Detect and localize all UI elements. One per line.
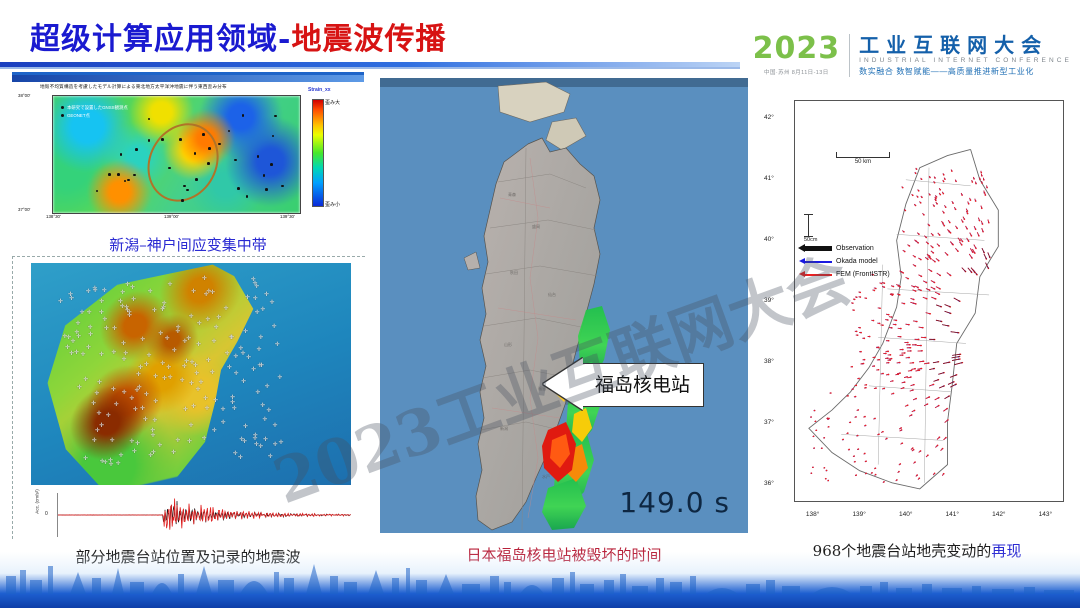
terrain-plot-area: ✛✛✛✛✛✛✛✛✛✛✛✛✛✛✛✛✛✛✛✛✛✛✛✛✛✛✛✛✛✛✛✛✛✛✛✛✛✛✛✛… xyxy=(31,263,351,485)
seismic-station-marker-icon: ✛ xyxy=(243,424,248,430)
seismic-station-marker-icon: ✛ xyxy=(212,339,217,345)
displacement-plot-area xyxy=(794,100,1064,502)
strain-colorbar-max-label: 歪み大 xyxy=(325,99,340,106)
vector-scale-marker: 50cm xyxy=(804,214,817,243)
strain-station-dot xyxy=(202,133,205,136)
displacement-xtick: 140° xyxy=(899,511,912,518)
seismic-station-marker-icon: ✛ xyxy=(253,433,258,439)
skyline-silhouette-icon xyxy=(0,560,1080,594)
scale-bar-rule xyxy=(836,152,890,158)
map-scale-bar: 50 km xyxy=(836,152,890,165)
seismic-station-marker-icon: ✛ xyxy=(88,332,93,338)
seismic-station-marker-icon: ✛ xyxy=(273,442,278,448)
strain-map-legend: 本研究で設置したGNSS観測点 GEONET点 xyxy=(61,104,128,120)
waveform-ylabel: Acc. (cm/s²) xyxy=(35,482,40,522)
legend-item-observation: Observation xyxy=(804,242,890,255)
seismic-station-marker-icon: ✛ xyxy=(106,413,111,419)
logo-text-block: 工业互联网大会 INDUSTRIAL INTERNET CONFERENCE 数… xyxy=(859,34,1072,77)
seismic-station-marker-icon: ✛ xyxy=(133,407,138,413)
svg-text:盛岡: 盛岡 xyxy=(532,223,540,229)
strain-station-dot xyxy=(127,179,130,182)
seismic-station-marker-icon: ✛ xyxy=(182,364,187,370)
legend-swatch-fem-icon xyxy=(804,274,832,276)
seismic-waveform-plot: Acc. (cm/s²) 0 xyxy=(51,493,351,537)
strain-map-headerbar xyxy=(12,75,364,82)
seismic-station-marker-icon: ✛ xyxy=(160,361,165,367)
seismic-station-marker-icon: ✛ xyxy=(253,296,258,302)
geonet-station-marker-icon xyxy=(61,114,64,117)
seismic-station-marker-icon: ✛ xyxy=(158,331,163,337)
seismic-station-marker-icon: ✛ xyxy=(153,418,158,424)
seismic-station-marker-icon: ✛ xyxy=(193,363,198,369)
seismic-station-marker-icon: ✛ xyxy=(58,299,63,305)
terrain-station-markers: ✛✛✛✛✛✛✛✛✛✛✛✛✛✛✛✛✛✛✛✛✛✛✛✛✛✛✛✛✛✛✛✛✛✛✛✛✛✛✛✛… xyxy=(31,263,351,485)
seismic-station-marker-icon: ✛ xyxy=(257,347,262,353)
displacement-legend: Observation Okada model FEM (FrontISTR) xyxy=(804,242,890,281)
seismic-station-marker-icon: ✛ xyxy=(112,326,117,332)
strain-map-title: 地殻不均質構造を考慮したモデル計算による東北地方太平洋沖地震に伴う東西歪み分布 xyxy=(40,84,227,90)
seismic-station-marker-icon: ✛ xyxy=(99,352,104,358)
seismic-station-marker-icon: ✛ xyxy=(88,325,93,331)
seismic-station-marker-icon: ✛ xyxy=(102,288,107,294)
seismic-station-marker-icon: ✛ xyxy=(221,420,226,426)
seismic-station-marker-icon: ✛ xyxy=(140,337,145,343)
seismic-station-marker-icon: ✛ xyxy=(270,300,275,306)
displacement-vectors xyxy=(810,168,991,483)
strain-station-dot xyxy=(108,173,111,176)
displacement-ytick: 41° xyxy=(764,175,774,182)
seismic-station-marker-icon: ✛ xyxy=(151,433,156,439)
seismic-station-marker-icon: ✛ xyxy=(153,399,158,405)
seismic-station-marker-icon: ✛ xyxy=(194,371,199,377)
seismic-station-marker-icon: ✛ xyxy=(80,310,85,316)
seismic-station-marker-icon: ✛ xyxy=(123,351,128,357)
svg-text:水戸: 水戸 xyxy=(542,473,550,479)
strain-map-figure: 地殻不均質構造を考慮したモデル計算による東北地方太平洋沖地震に伴う東西歪み分布 … xyxy=(12,72,364,230)
simulation-map-layer: 青森盛岡秋田 仙台山形福島 新潟水戸 xyxy=(380,78,748,533)
logo-year: 2023 xyxy=(753,34,841,64)
waveform-zero-label: 0 xyxy=(45,511,48,517)
seismic-station-marker-icon: ✛ xyxy=(153,374,158,380)
displacement-ytick: 42° xyxy=(764,114,774,121)
scale-bar-label: 50 km xyxy=(836,159,890,165)
svg-text:秋田: 秋田 xyxy=(510,269,518,275)
seismic-station-marker-icon: ✛ xyxy=(180,378,185,384)
seismic-station-marker-icon: ✛ xyxy=(63,334,68,340)
seismic-station-marker-icon: ✛ xyxy=(175,438,180,444)
strain-station-dot xyxy=(186,189,189,192)
seismic-station-marker-icon: ✛ xyxy=(150,428,155,434)
strain-station-dot xyxy=(246,195,249,198)
title-divider-secondary xyxy=(0,67,740,69)
seismic-station-marker-icon: ✛ xyxy=(232,406,237,412)
svg-text:仙台: 仙台 xyxy=(548,291,556,297)
svg-text:山形: 山形 xyxy=(504,341,512,347)
displacement-xtick: 142° xyxy=(992,511,1005,518)
displacement-xtick: 139° xyxy=(852,511,865,518)
logo-name-cn: 工业互联网大会 xyxy=(859,34,1072,56)
seismic-station-marker-icon: ✛ xyxy=(212,428,217,434)
seismic-station-marker-icon: ✛ xyxy=(135,441,140,447)
svg-text:青森: 青森 xyxy=(508,191,516,197)
seismic-station-marker-icon: ✛ xyxy=(122,357,127,363)
seismic-station-marker-icon: ✛ xyxy=(251,277,256,283)
strain-station-dot xyxy=(133,174,136,177)
strain-ytick-0: 38°00' xyxy=(18,93,30,98)
strain-station-dot xyxy=(207,162,210,165)
seismic-station-marker-icon: ✛ xyxy=(83,377,88,383)
strain-station-dot xyxy=(270,163,273,166)
seismic-station-marker-icon: ✛ xyxy=(168,375,173,381)
logo-slogan: 数实融合 数智赋能——高质量推进新型工业化 xyxy=(859,66,1072,77)
seismic-station-marker-icon: ✛ xyxy=(196,387,201,393)
seismic-station-marker-icon: ✛ xyxy=(116,461,121,467)
seismic-station-marker-icon: ✛ xyxy=(214,325,219,331)
seismic-station-marker-icon: ✛ xyxy=(104,326,109,332)
seismic-station-marker-icon: ✛ xyxy=(176,329,181,335)
strain-station-dot xyxy=(208,147,211,150)
seismic-station-marker-icon: ✛ xyxy=(95,428,100,434)
seismic-station-marker-icon: ✛ xyxy=(122,390,127,396)
strain-station-dot xyxy=(117,173,120,176)
seismic-station-marker-icon: ✛ xyxy=(147,353,152,359)
seismic-station-marker-icon: ✛ xyxy=(130,396,135,402)
displacement-ytick: 40° xyxy=(764,236,774,243)
strain-legend-item-1: GEONET点 xyxy=(67,113,90,118)
seismic-station-marker-icon: ✛ xyxy=(272,324,277,330)
logo-year-block: 2023 中国·苏州 8月11日-13日 xyxy=(753,34,850,76)
seismic-station-marker-icon: ✛ xyxy=(260,307,265,313)
seismic-station-marker-icon: ✛ xyxy=(233,354,238,360)
strain-station-dot xyxy=(135,148,138,151)
seismic-station-marker-icon: ✛ xyxy=(111,387,116,393)
seismic-station-marker-icon: ✛ xyxy=(251,367,256,373)
seismic-station-marker-icon: ✛ xyxy=(186,336,191,342)
seismic-station-marker-icon: ✛ xyxy=(225,351,230,357)
seismic-station-marker-icon: ✛ xyxy=(224,306,229,312)
seismic-station-marker-icon: ✛ xyxy=(268,454,273,460)
logo-divider xyxy=(849,34,850,77)
seismic-station-marker-icon: ✛ xyxy=(266,408,271,414)
seismic-station-marker-icon: ✛ xyxy=(241,379,246,385)
seismic-station-marker-icon: ✛ xyxy=(162,301,167,307)
legend-label-okada: Okada model xyxy=(836,255,878,268)
seismic-station-marker-icon: ✛ xyxy=(256,390,261,396)
seismic-station-marker-icon: ✛ xyxy=(273,423,278,429)
seismic-station-marker-icon: ✛ xyxy=(130,285,135,291)
strain-legend-item-0: 本研究で設置したGNSS観測点 xyxy=(67,105,128,110)
seismic-station-marker-icon: ✛ xyxy=(119,453,124,459)
seismic-station-marker-icon: ✛ xyxy=(230,335,235,341)
displacement-xtick: 143° xyxy=(1039,511,1052,518)
seismic-station-marker-icon: ✛ xyxy=(136,372,141,378)
seismic-station-marker-icon: ✛ xyxy=(196,342,201,348)
seismic-station-marker-icon: ✛ xyxy=(114,402,119,408)
strain-xtick-2: 139°30' xyxy=(280,214,295,219)
strain-xtick-1: 139°00' xyxy=(164,214,179,219)
seismic-station-marker-icon: ✛ xyxy=(76,321,81,327)
strain-colorbar-label: Strain_xx xyxy=(308,87,331,93)
seismic-station-marker-icon: ✛ xyxy=(86,289,91,295)
seismic-station-marker-icon: ✛ xyxy=(205,406,210,412)
crustal-displacement-chart: 42°41°40°39°38°37°36° 138°139°140°141°14… xyxy=(762,92,1072,532)
seismic-station-marker-icon: ✛ xyxy=(239,437,244,443)
seismic-station-marker-icon: ✛ xyxy=(278,375,283,381)
vector-scale-stem xyxy=(808,214,809,236)
seismic-station-marker-icon: ✛ xyxy=(260,403,265,409)
waveform-axis-line xyxy=(57,493,58,537)
footer-skyline-decoration xyxy=(0,552,1080,608)
seismic-station-marker-icon: ✛ xyxy=(189,423,194,429)
seismic-station-marker-icon: ✛ xyxy=(144,392,149,398)
seismic-station-marker-icon: ✛ xyxy=(246,355,251,361)
strain-station-dot xyxy=(242,114,245,117)
strain-station-dot xyxy=(274,115,277,118)
seismic-station-marker-icon: ✛ xyxy=(259,363,264,369)
seismic-station-marker-icon: ✛ xyxy=(202,436,207,442)
legend-item-fem: FEM (FrontISTR) xyxy=(804,268,890,281)
seismic-station-marker-icon: ✛ xyxy=(265,384,270,390)
seismic-station-marker-icon: ✛ xyxy=(191,404,196,410)
seismic-station-marker-icon: ✛ xyxy=(148,289,153,295)
seismic-station-marker-icon: ✛ xyxy=(138,365,143,371)
seismic-station-marker-icon: ✛ xyxy=(65,345,70,351)
strain-colorbar-min-label: 歪み小 xyxy=(325,201,340,208)
fukushima-callout-label: 福岛核电站 xyxy=(595,370,690,397)
vector-scale-top-cap xyxy=(804,214,813,215)
seismic-station-marker-icon: ✛ xyxy=(99,299,104,305)
seismic-station-marker-icon: ✛ xyxy=(206,289,211,295)
seismic-station-marker-icon: ✛ xyxy=(264,292,269,298)
seismic-station-marker-icon: ✛ xyxy=(151,450,156,456)
seismic-station-marker-icon: ✛ xyxy=(131,297,136,303)
seismic-station-marker-icon: ✛ xyxy=(213,398,218,404)
seismic-station-marker-icon: ✛ xyxy=(102,317,107,323)
seismic-station-marker-icon: ✛ xyxy=(183,407,188,413)
seismic-station-marker-icon: ✛ xyxy=(109,462,114,468)
simulation-timer: 149.0 s xyxy=(619,486,730,519)
seismic-station-marker-icon: ✛ xyxy=(143,417,148,423)
seismic-station-marker-icon: ✛ xyxy=(171,450,176,456)
seismic-station-marker-icon: ✛ xyxy=(121,341,126,347)
seismic-station-marker-icon: ✛ xyxy=(189,381,194,387)
seismic-station-marker-icon: ✛ xyxy=(86,345,91,351)
displacement-ytick: 36° xyxy=(764,480,774,487)
strain-station-dot xyxy=(181,199,184,202)
legend-label-observation: Observation xyxy=(836,242,874,255)
gnss-station-marker-icon xyxy=(61,106,64,109)
seismic-station-marker-icon: ✛ xyxy=(81,352,86,358)
wave-propagation-simulation: 青森盛岡秋田 仙台山形福島 新潟水戸 149.0 s xyxy=(380,78,748,533)
seismic-station-marker-icon: ✛ xyxy=(129,439,134,445)
strain-station-dot xyxy=(195,178,198,181)
seismic-station-marker-icon: ✛ xyxy=(259,335,264,341)
seismic-station-marker-icon: ✛ xyxy=(230,395,235,401)
seismic-station-marker-icon: ✛ xyxy=(97,380,102,386)
seismic-station-marker-icon: ✛ xyxy=(191,289,196,295)
fukushima-callout-arrow: 福岛核电站 xyxy=(543,358,703,410)
logo-year-subtitle: 中国·苏州 8月11日-13日 xyxy=(764,68,829,76)
strain-xtick-0: 138°30' xyxy=(46,214,61,219)
seismic-station-marker-icon: ✛ xyxy=(166,365,171,371)
seismic-station-marker-icon: ✛ xyxy=(92,438,97,444)
slide-root: 超级计算应用领域-地震波传播 2023 中国·苏州 8月11日-13日 工业互联… xyxy=(0,0,1080,608)
page-title: 超级计算应用领域-地震波传播 xyxy=(30,14,446,58)
strain-station-dot xyxy=(161,138,164,141)
displacement-xtick: 138° xyxy=(806,511,819,518)
seismic-station-marker-icon: ✛ xyxy=(152,308,157,314)
seismic-station-marker-icon: ✛ xyxy=(263,437,268,443)
seismic-station-marker-icon: ✛ xyxy=(238,455,243,461)
svg-text:新潟: 新潟 xyxy=(500,425,508,431)
strain-map-plot-area: 本研究で設置したGNSS観測点 GEONET点 xyxy=(52,95,301,214)
seismic-station-marker-icon: ✛ xyxy=(160,307,165,313)
seismic-station-marker-icon: ✛ xyxy=(216,315,221,321)
seismic-station-marker-icon: ✛ xyxy=(279,440,284,446)
seismic-station-marker-icon: ✛ xyxy=(71,339,76,345)
seismic-station-marker-icon: ✛ xyxy=(93,288,98,294)
seismic-station-marker-icon: ✛ xyxy=(254,442,259,448)
seismic-station-marker-icon: ✛ xyxy=(144,362,149,368)
terrain-station-figure: ✛✛✛✛✛✛✛✛✛✛✛✛✛✛✛✛✛✛✛✛✛✛✛✛✛✛✛✛✛✛✛✛✛✛✛✛✛✛✛✛… xyxy=(12,256,365,539)
strain-colorbar xyxy=(312,99,324,207)
legend-swatch-observation-icon xyxy=(804,246,832,251)
seismic-station-marker-icon: ✛ xyxy=(100,459,105,465)
displacement-ytick: 39° xyxy=(764,297,774,304)
seismic-station-marker-icon: ✛ xyxy=(234,371,239,377)
displacement-xtick: 141° xyxy=(946,511,959,518)
seismic-station-marker-icon: ✛ xyxy=(95,391,100,397)
seismic-station-marker-icon: ✛ xyxy=(118,299,123,305)
displacement-ytick: 37° xyxy=(764,419,774,426)
seismic-station-marker-icon: ✛ xyxy=(203,396,208,402)
seismic-station-marker-icon: ✛ xyxy=(172,348,177,354)
seismic-station-marker-icon: ✛ xyxy=(158,443,163,449)
seismic-station-marker-icon: ✛ xyxy=(99,423,104,429)
seismic-station-marker-icon: ✛ xyxy=(132,449,137,455)
seismic-station-marker-icon: ✛ xyxy=(137,385,142,391)
seismic-station-marker-icon: ✛ xyxy=(258,444,263,450)
strain-station-dot xyxy=(237,187,240,190)
seismic-station-marker-icon: ✛ xyxy=(74,350,79,356)
callout-arrow-head-icon xyxy=(543,358,583,410)
seismic-station-marker-icon: ✛ xyxy=(245,295,250,301)
page-title-accent: 地震波传播 xyxy=(291,22,446,57)
strain-station-dot xyxy=(265,188,268,191)
displacement-ytick: 38° xyxy=(764,358,774,365)
seismic-station-marker-icon: ✛ xyxy=(68,292,73,298)
seismic-station-marker-icon: ✛ xyxy=(168,282,173,288)
logo-name-en: INDUSTRIAL INTERNET CONFERENCE xyxy=(859,57,1072,64)
waveform-trace xyxy=(51,493,351,537)
seismic-station-marker-icon: ✛ xyxy=(97,411,102,417)
seismic-station-marker-icon: ✛ xyxy=(206,317,211,323)
seismic-station-marker-icon: ✛ xyxy=(202,276,207,282)
strain-station-dot xyxy=(179,138,182,141)
seismic-station-marker-icon: ✛ xyxy=(210,370,215,376)
seismic-station-marker-icon: ✛ xyxy=(125,308,130,314)
vector-scale-bottom-cap xyxy=(804,236,813,237)
seismic-station-marker-icon: ✛ xyxy=(241,351,246,357)
seismic-station-marker-icon: ✛ xyxy=(239,346,244,352)
strain-station-dot xyxy=(148,139,151,142)
seismic-station-marker-icon: ✛ xyxy=(69,351,74,357)
seismic-station-marker-icon: ✛ xyxy=(76,334,81,340)
strain-ytick-1: 37°00' xyxy=(18,207,30,212)
seismic-station-marker-icon: ✛ xyxy=(197,321,202,327)
seismic-station-marker-icon: ✛ xyxy=(187,439,192,445)
strain-station-dot xyxy=(257,155,260,158)
seismic-station-marker-icon: ✛ xyxy=(275,342,280,348)
page-title-primary: 超级计算应用领域- xyxy=(30,22,291,57)
seismic-station-marker-icon: ✛ xyxy=(77,385,82,391)
seismic-station-marker-icon: ✛ xyxy=(165,336,170,342)
seismic-station-marker-icon: ✛ xyxy=(227,365,232,371)
seismic-station-marker-icon: ✛ xyxy=(243,329,248,335)
legend-label-fem: FEM (FrontISTR) xyxy=(836,268,890,281)
seismic-station-marker-icon: ✛ xyxy=(199,380,204,386)
seismic-station-marker-icon: ✛ xyxy=(87,310,92,316)
seismic-station-marker-icon: ✛ xyxy=(262,417,267,423)
seismic-station-marker-icon: ✛ xyxy=(83,456,88,462)
seismic-station-marker-icon: ✛ xyxy=(111,350,116,356)
seismic-station-marker-icon: ✛ xyxy=(162,376,167,382)
seismic-station-marker-icon: ✛ xyxy=(120,290,125,296)
conference-logo: 2023 中国·苏州 8月11日-13日 工业互联网大会 INDUSTRIAL … xyxy=(753,34,1072,77)
legend-swatch-okada-icon xyxy=(804,261,832,263)
strain-map-caption: 新潟–神户间应变集中带 xyxy=(12,234,364,255)
seismic-station-marker-icon: ✛ xyxy=(140,406,145,412)
legend-item-okada: Okada model xyxy=(804,255,890,268)
seismic-station-marker-icon: ✛ xyxy=(91,401,96,407)
seismic-station-marker-icon: ✛ xyxy=(189,314,194,320)
seismic-station-marker-icon: ✛ xyxy=(221,407,226,413)
seismic-station-marker-icon: ✛ xyxy=(99,310,104,316)
seismic-station-marker-icon: ✛ xyxy=(110,438,115,444)
seismic-station-marker-icon: ✛ xyxy=(206,358,211,364)
